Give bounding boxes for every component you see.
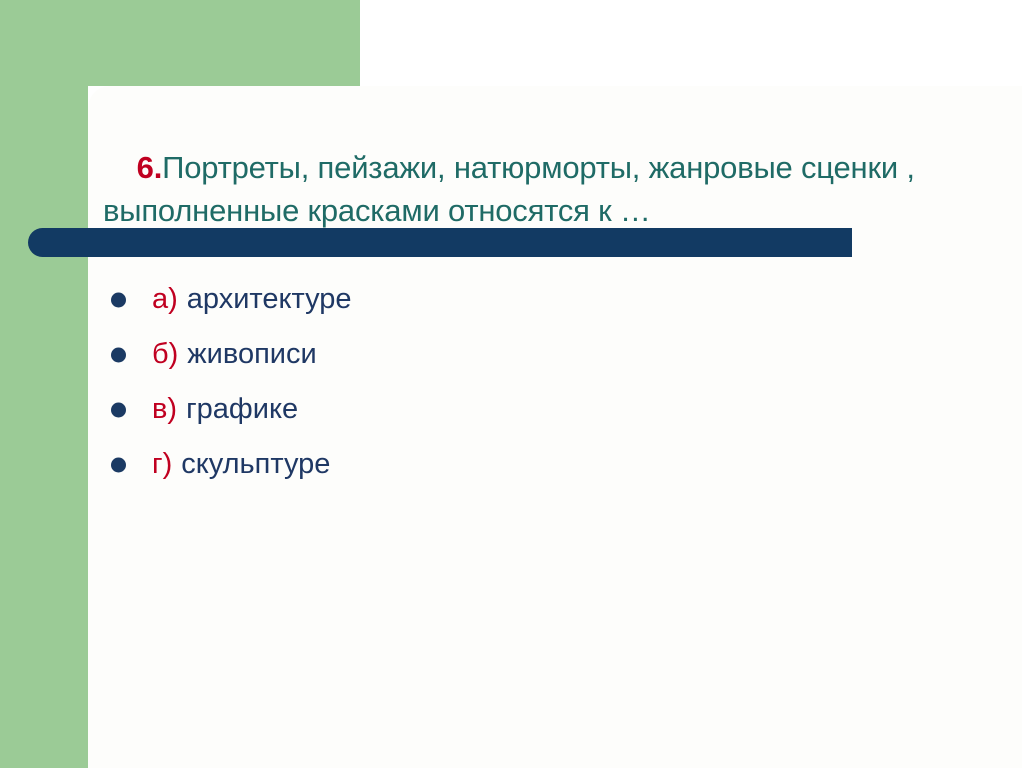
bullet-icon xyxy=(111,347,126,362)
answer-label: графике xyxy=(186,395,298,424)
answer-marker: а) xyxy=(152,285,178,314)
green-top-block xyxy=(0,0,360,86)
navy-divider-bar xyxy=(28,228,852,257)
bullet-icon xyxy=(111,292,126,307)
answer-label: живописи xyxy=(187,340,316,369)
answer-label: архитектуре xyxy=(187,285,352,314)
bullet-icon xyxy=(111,457,126,472)
question-number: 6. xyxy=(137,150,162,185)
list-item[interactable]: в) графике xyxy=(108,382,908,437)
answer-marker: г) xyxy=(152,450,172,479)
list-item[interactable]: г) скульптуре xyxy=(108,437,908,492)
answer-label: скульптуре xyxy=(181,450,330,479)
question-text: Портреты, пейзажи, натюрморты, жанровые … xyxy=(103,150,923,228)
list-item[interactable]: а) архитектуре xyxy=(108,272,908,327)
answer-marker: б) xyxy=(152,340,178,369)
slide: 6.Портреты, пейзажи, натюрморты, жанровы… xyxy=(0,0,1022,768)
bullet-icon xyxy=(111,402,126,417)
list-item[interactable]: б) живописи xyxy=(108,327,908,382)
green-side-band xyxy=(0,0,88,768)
answer-options-list: а) архитектуре б) живописи в) графике г)… xyxy=(108,272,908,492)
answer-marker: в) xyxy=(152,395,177,424)
